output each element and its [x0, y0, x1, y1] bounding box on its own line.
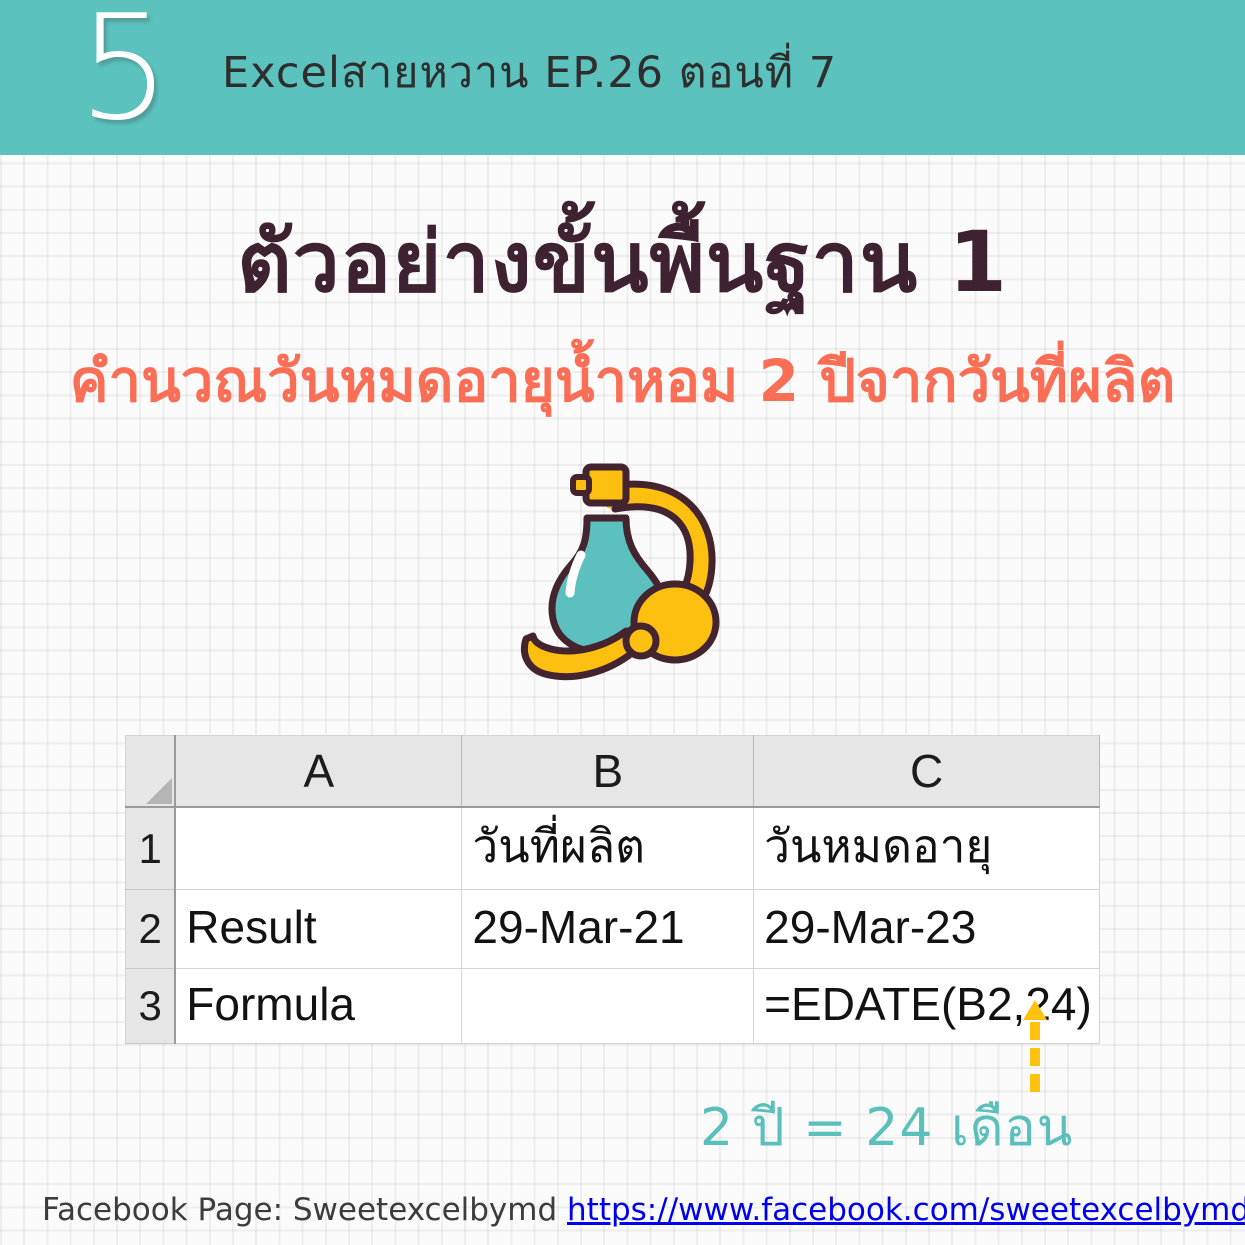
cell-a3[interactable]: Formula [175, 969, 462, 1044]
column-header-b[interactable]: B [462, 736, 754, 808]
cell-c1[interactable]: วันหมดอายุ [754, 807, 1100, 890]
cell-a1[interactable] [175, 807, 462, 890]
column-header-a[interactable]: A [175, 736, 462, 808]
slide-number: 5 [78, 0, 170, 141]
footer-prefix: Facebook Page: Sweetexcelbymd [42, 1192, 567, 1228]
page-subtitle: คำนวณวันหมดอายุน้ำหอม 2 ปีจากวันที่ผลิต [0, 348, 1245, 414]
column-header-row: A B C [126, 736, 1100, 808]
row-header-1[interactable]: 1 [126, 807, 176, 890]
perfume-bottle-icon [495, 455, 755, 695]
cell-b1[interactable]: วันที่ผลิต [462, 807, 754, 890]
cell-a2[interactable]: Result [175, 890, 462, 969]
corner-triangle-icon [146, 778, 172, 804]
callout-arrow-icon [1022, 1000, 1048, 1095]
page-title: ตัวอย่างขั้นพื้นฐาน 1 [0, 216, 1245, 308]
row-header-2[interactable]: 2 [126, 890, 176, 969]
header-bar: 5 Excelสายหวาน EP.26 ตอนที่ 7 [0, 0, 1245, 155]
row-header-3[interactable]: 3 [126, 969, 176, 1044]
footer-facebook-link[interactable]: https://www.facebook.com/sweetexcelbymd/ [567, 1192, 1245, 1228]
header-title: Excelสายหวาน EP.26 ตอนที่ 7 [222, 44, 837, 102]
annotation-note: 2 ปี = 24 เดือน [700, 1098, 1073, 1158]
table-row: 1 วันที่ผลิต วันหมดอายุ [126, 807, 1100, 890]
column-header-c[interactable]: C [754, 736, 1100, 808]
cell-c2[interactable]: 29-Mar-23 [754, 890, 1100, 969]
table-row: 2 Result 29-Mar-21 29-Mar-23 [126, 890, 1100, 969]
footer: Facebook Page: Sweetexcelbymd https://ww… [42, 1190, 1245, 1230]
spreadsheet-table[interactable]: A B C 1 วันที่ผลิต วันหมดอายุ 2 Result 2… [125, 735, 1100, 1044]
cell-b2[interactable]: 29-Mar-21 [462, 890, 754, 969]
cell-b3[interactable] [462, 969, 754, 1044]
select-all-corner[interactable] [126, 736, 176, 808]
table-row: 3 Formula =EDATE(B2,24) [126, 969, 1100, 1044]
